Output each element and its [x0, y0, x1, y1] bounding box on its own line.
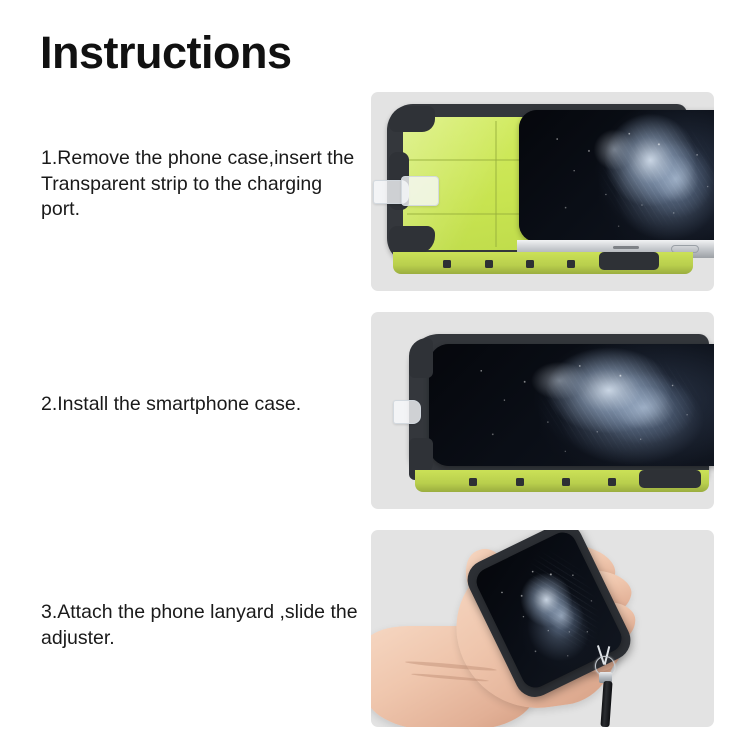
wave-spray-texture — [429, 344, 714, 466]
case-corner-lug — [389, 106, 435, 132]
case-vent — [443, 260, 451, 268]
case-corner-lug — [409, 338, 433, 378]
step-2-image-panel — [371, 312, 714, 509]
case-vent — [562, 478, 570, 486]
transparent-strip-insert — [401, 176, 439, 206]
smartphone — [519, 110, 714, 242]
transparent-strip — [393, 400, 421, 424]
phone-case-with-transparent-strip — [371, 92, 714, 291]
wave-spray-texture — [519, 110, 714, 242]
case-vent — [516, 478, 524, 486]
smartphone — [429, 344, 714, 466]
case-vent — [608, 478, 616, 486]
phone-speaker-grille — [613, 246, 639, 249]
page-title: Instructions — [40, 28, 292, 78]
hand-holding-phone-with-lanyard — [371, 530, 714, 727]
phone-installed-in-case — [371, 312, 714, 509]
tray-seam — [495, 121, 497, 247]
case-button-bar — [639, 470, 701, 488]
step-1-text: 1.Remove the phone case,insert the Trans… — [41, 146, 366, 223]
step-1-image-panel — [371, 92, 714, 291]
step-3-image-panel — [371, 530, 714, 727]
instructions-page: Instructions 1.Remove the phone case,ins… — [0, 0, 750, 750]
step-3-text: 3.Attach the phone lanyard ,slide the ad… — [41, 600, 366, 651]
case-vent — [567, 260, 575, 268]
case-corner-lug — [389, 226, 435, 254]
step-2-text: 2.Install the smartphone case. — [41, 392, 366, 418]
tray-seam — [407, 213, 519, 215]
case-vent — [526, 260, 534, 268]
case-vent — [469, 478, 477, 486]
lanyard-cord — [600, 681, 612, 727]
case-button-bar — [599, 252, 659, 270]
tray-seam — [407, 159, 519, 161]
case-vent — [485, 260, 493, 268]
